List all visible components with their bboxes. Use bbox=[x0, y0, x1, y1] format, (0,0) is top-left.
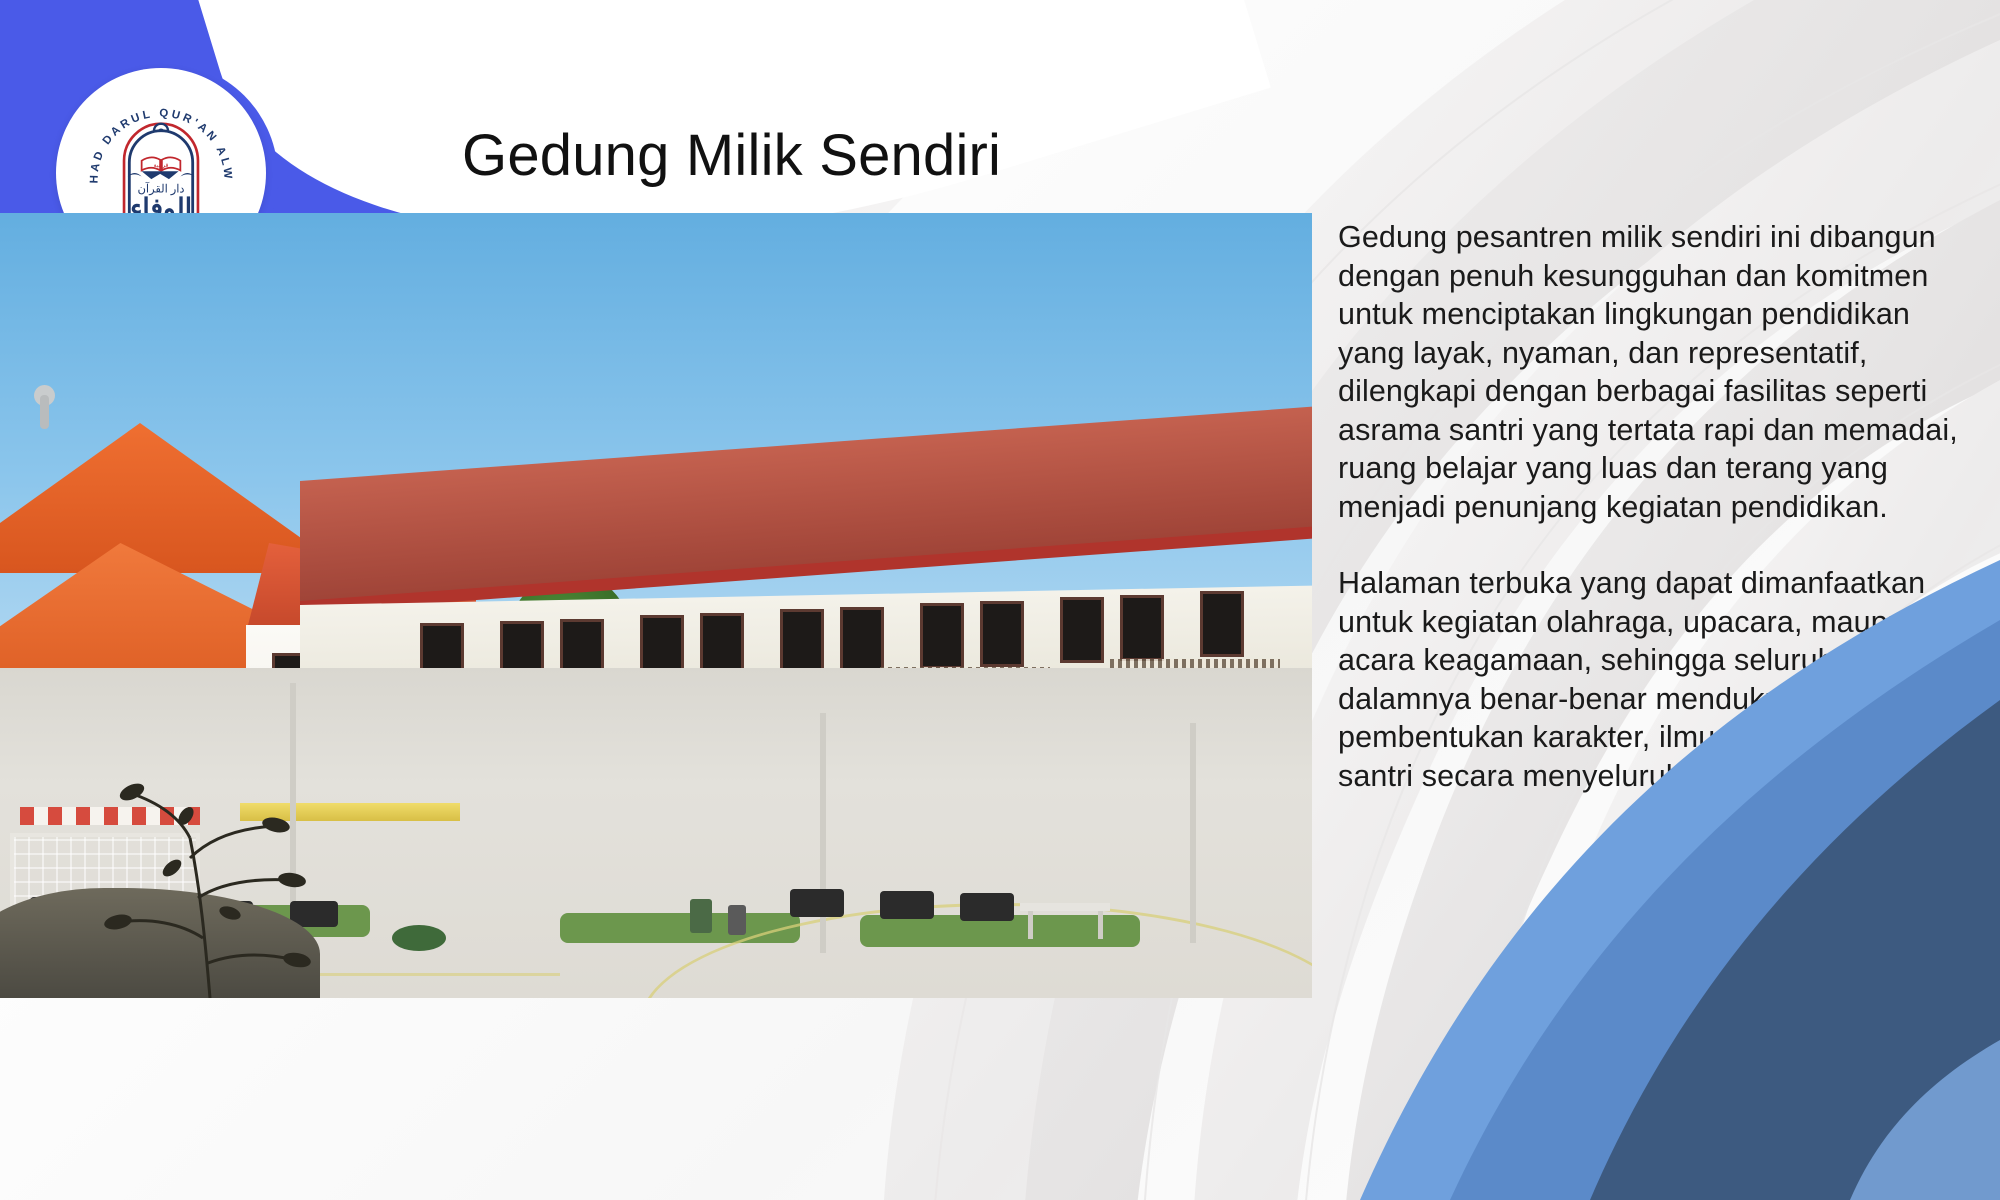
bench bbox=[1020, 903, 1110, 911]
window bbox=[1060, 597, 1104, 663]
foreground-bush bbox=[60, 708, 380, 998]
building-photo bbox=[0, 213, 1312, 998]
window bbox=[1200, 591, 1244, 657]
tarp-bundle bbox=[392, 925, 446, 951]
mosque-finial bbox=[40, 395, 49, 429]
window bbox=[980, 601, 1024, 667]
window bbox=[1120, 595, 1164, 661]
description-paragraph-2: Halaman terbuka yang dapat dimanfaatkan … bbox=[1338, 564, 1978, 795]
window bbox=[840, 607, 884, 673]
bin bbox=[728, 905, 746, 935]
flag-pole bbox=[820, 713, 826, 953]
bench-leg bbox=[1028, 911, 1033, 939]
slide-canvas: MA'HAD DARUL QUR'AN ALWAFA قرأنية دار ال… bbox=[0, 0, 2000, 1200]
bench-leg bbox=[1098, 911, 1103, 939]
bush-svg bbox=[60, 708, 380, 998]
motorbike bbox=[880, 891, 934, 919]
flag-pole bbox=[1190, 723, 1196, 943]
motorbike bbox=[960, 893, 1014, 921]
page-title: Gedung Milik Sendiri bbox=[462, 122, 1001, 189]
description-paragraph-1: Gedung pesantren milik sendiri ini diban… bbox=[1338, 218, 1978, 526]
window bbox=[780, 609, 824, 675]
window bbox=[920, 603, 964, 669]
description-column: Gedung pesantren milik sendiri ini diban… bbox=[1338, 218, 1978, 795]
bin bbox=[690, 899, 712, 933]
motorbike bbox=[790, 889, 844, 917]
